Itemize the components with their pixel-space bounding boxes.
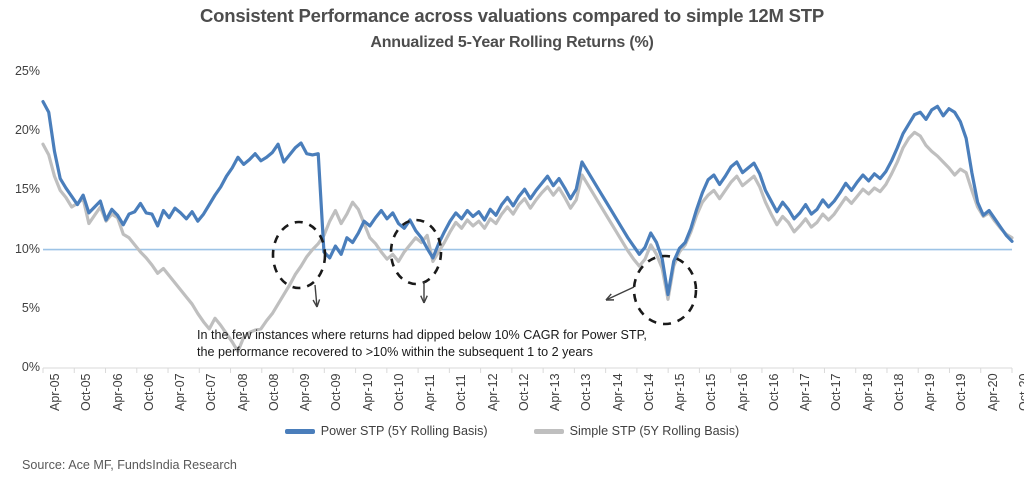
x-tick-label: Oct-12 — [517, 373, 531, 411]
callout-annotations — [273, 220, 696, 324]
source-note: Source: Ace MF, FundsIndia Research — [22, 458, 237, 472]
x-tick-label: Oct-18 — [892, 373, 906, 411]
x-tick-label: Oct-07 — [204, 373, 218, 411]
x-tick-label: Apr-07 — [173, 373, 187, 411]
x-tick-label: Oct-17 — [829, 373, 843, 411]
chart-container: Consistent Performance across valuations… — [0, 0, 1024, 484]
legend-label: Simple STP (5Y Rolling Basis) — [570, 424, 740, 438]
chart-legend: Power STP (5Y Rolling Basis)Simple STP (… — [0, 424, 1024, 438]
x-tick-label: Oct-11 — [454, 374, 468, 411]
x-tick-label: Oct-10 — [392, 373, 406, 411]
x-tick-label: Oct-14 — [642, 373, 656, 411]
x-tick-label: Apr-20 — [986, 373, 1000, 411]
x-tick-label: Apr-08 — [236, 373, 250, 411]
x-tick-label: Oct-19 — [954, 373, 968, 411]
x-tick-label: Oct-09 — [329, 373, 343, 411]
series-line-simple-stp — [43, 132, 1012, 351]
x-tick-label: Oct-16 — [767, 373, 781, 411]
x-tick-label: Apr-16 — [736, 373, 750, 411]
x-tick-label: Apr-12 — [486, 373, 500, 411]
x-tick-label: Oct-06 — [142, 373, 156, 411]
x-tick-label: Oct-20 — [1017, 373, 1024, 411]
legend-item-power-stp[interactable]: Power STP (5Y Rolling Basis) — [285, 424, 488, 438]
legend-item-simple-stp[interactable]: Simple STP (5Y Rolling Basis) — [534, 424, 740, 438]
annotation-line-2: the performance recovered to >10% within… — [197, 344, 697, 361]
annotation-text: In the few instances where returns had d… — [197, 327, 697, 361]
x-tick-label: Oct-05 — [79, 373, 93, 411]
y-tick-label: 0% — [0, 360, 40, 374]
x-tick-label: Apr-17 — [798, 373, 812, 411]
callout-ellipse-dip-2009 — [273, 222, 325, 288]
x-tick-label: Apr-15 — [673, 373, 687, 411]
x-tick-label: Apr-11 — [423, 374, 437, 411]
legend-swatch — [285, 429, 315, 434]
x-tick-label: Apr-14 — [611, 373, 625, 411]
x-tick-label: Oct-13 — [579, 373, 593, 411]
x-tick-label: Apr-05 — [48, 373, 62, 411]
y-tick-label: 25% — [0, 64, 40, 78]
annotation-line-1: In the few instances where returns had d… — [197, 327, 697, 344]
series-line-power-stp — [43, 102, 1012, 295]
y-tick-label: 15% — [0, 182, 40, 196]
y-tick-label: 5% — [0, 301, 40, 315]
x-tick-label: Apr-19 — [923, 373, 937, 411]
x-tick-label: Oct-08 — [267, 373, 281, 411]
x-tick-label: Apr-06 — [111, 373, 125, 411]
x-tick-label: Apr-13 — [548, 373, 562, 411]
legend-swatch — [534, 429, 564, 434]
legend-label: Power STP (5Y Rolling Basis) — [321, 424, 488, 438]
x-tick-label: Apr-09 — [298, 373, 312, 411]
x-tick-label: Apr-10 — [361, 373, 375, 411]
callout-arrow-dip-2015 — [606, 287, 634, 300]
x-tick-label: Oct-15 — [704, 373, 718, 411]
y-tick-label: 10% — [0, 242, 40, 256]
y-tick-label: 20% — [0, 123, 40, 137]
data-series-group — [43, 102, 1012, 352]
x-tick-label: Apr-18 — [861, 373, 875, 411]
